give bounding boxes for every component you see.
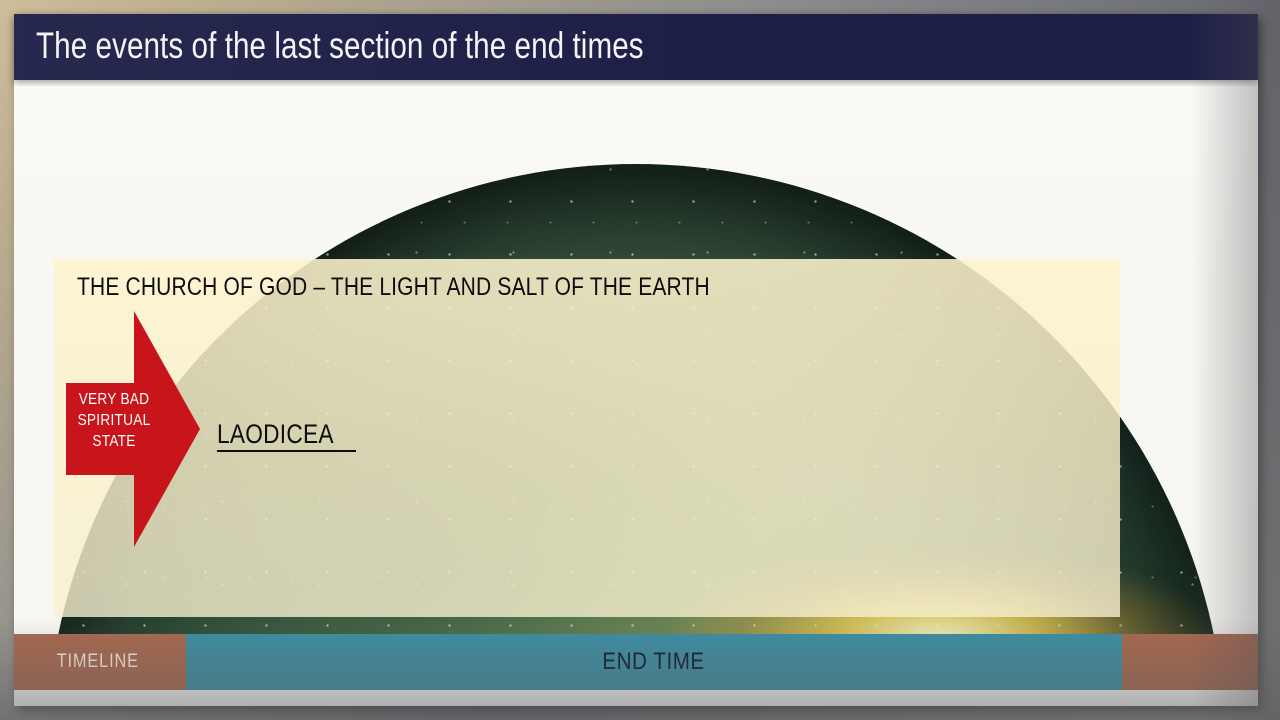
arrow-label-line-1: VERY BAD [68, 389, 160, 410]
slide-title-text: The events of the last section of the en… [36, 25, 644, 67]
right-arrow-icon: VERY BAD SPIRITUAL STATE [66, 311, 200, 547]
timeline-bar: TIMELINE END TIME [14, 634, 1258, 690]
arrow-label-line-3: STATE [68, 431, 160, 452]
arrow-label: VERY BAD SPIRITUAL STATE [68, 389, 160, 452]
timeline-segment-end-time: END TIME [186, 634, 1122, 690]
panel-heading-text: THE CHURCH OF GOD – THE LIGHT AND SALT O… [77, 273, 710, 302]
presentation-slide: The events of the last section of the en… [0, 0, 1280, 720]
timeline-segment-label: END TIME [594, 648, 713, 676]
slide-canvas: THE CHURCH OF GOD – THE LIGHT AND SALT O… [14, 86, 1258, 706]
content-panel: THE CHURCH OF GOD – THE LIGHT AND SALT O… [54, 259, 1120, 617]
timeline-tail-block [1122, 634, 1258, 690]
timeline-label: TIMELINE [50, 651, 146, 673]
church-era-label: LAODICEA [217, 419, 356, 452]
panel-heading: THE CHURCH OF GOD – THE LIGHT AND SALT O… [77, 273, 830, 302]
slide-title-bar: The events of the last section of the en… [14, 14, 1258, 80]
church-era-text: LAODICEA [217, 419, 334, 449]
timeline-label-box: TIMELINE [14, 634, 186, 690]
slide-bottom-strip [14, 690, 1258, 706]
page-title: The events of the last section of the en… [36, 25, 796, 67]
arrow-label-line-2: SPIRITUAL [68, 410, 160, 431]
